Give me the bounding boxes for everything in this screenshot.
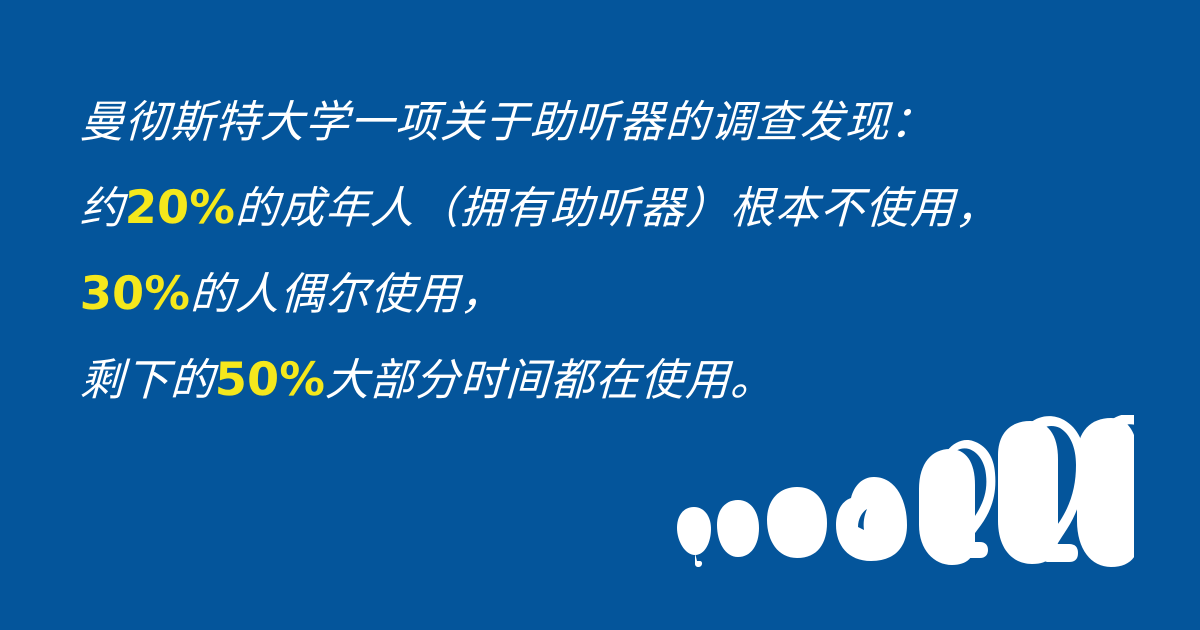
headline-line-3-suffix: 的人偶尔使用，	[189, 269, 506, 320]
hearing-aid-progression-illustration	[664, 415, 1134, 590]
headline-line-4: 剩下的50%大部分时间都在使用。	[78, 337, 1121, 423]
headline-text-block: 曼彻斯特大学一项关于助听器的调查发现： 约20%的成年人（拥有助听器）根本不使用…	[80, 80, 1120, 423]
headline-line-3: 30%的人偶尔使用，	[78, 251, 1121, 337]
headline-line-4-prefix: 剩下的	[79, 355, 216, 406]
stat-never-use: 20%	[124, 180, 236, 234]
hearing-aid-icon-1	[677, 507, 711, 567]
headline-line-1: 曼彻斯特大学一项关于助听器的调查发现：	[79, 80, 1122, 165]
hearing-aid-icon-3	[767, 487, 827, 558]
poster-canvas: 曼彻斯特大学一项关于助听器的调查发现： 约20%的成年人（拥有助听器）根本不使用…	[0, 0, 1200, 630]
headline-line-2: 约20%的成年人（拥有助听器）根本不使用，	[78, 165, 1121, 251]
headline-line-1-text: 曼彻斯特大学一项关于助听器的调查发现：	[79, 97, 936, 148]
stat-most-of-time-use: 50%	[214, 352, 326, 406]
stat-occasional-use: 30%	[79, 266, 191, 320]
headline-line-4-suffix: 大部分时间都在使用。	[324, 355, 776, 406]
hearing-aid-icon-4	[836, 477, 907, 561]
headline-line-2-prefix: 约	[79, 183, 126, 234]
hearing-aid-icon-7	[1077, 415, 1134, 567]
headline-line-2-suffix: 的成年人（拥有助听器）根本不使用，	[234, 183, 1001, 234]
hearing-aid-icon-2	[717, 500, 759, 557]
hearing-aid-icon-6	[998, 416, 1085, 564]
